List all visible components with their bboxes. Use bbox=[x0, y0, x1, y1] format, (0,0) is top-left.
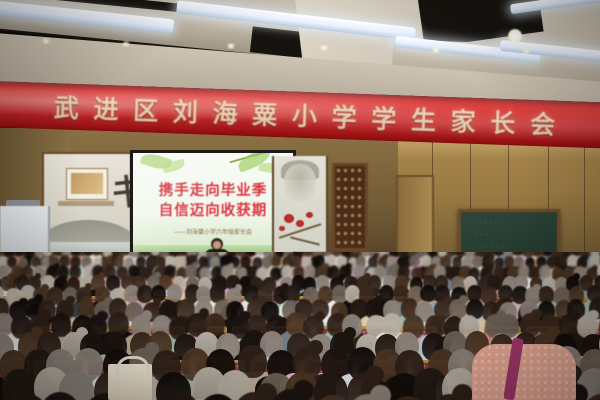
photo-scene: 武 进 区 刘 海 粟 小 学 学 生 家 长 会 书 携手走向毕业季 自信迈向… bbox=[0, 0, 600, 400]
pink-knit-top bbox=[472, 344, 576, 400]
audience-seating bbox=[0, 252, 600, 400]
audience-member bbox=[595, 393, 600, 400]
hanging-scroll bbox=[272, 156, 328, 252]
side-door[interactable] bbox=[396, 175, 434, 257]
chalkboard-line-1: · · · · · · · bbox=[469, 220, 503, 226]
tote-bag-handle bbox=[116, 356, 150, 375]
scroll-portrait bbox=[284, 164, 316, 202]
lattice-screen-panel bbox=[332, 163, 368, 251]
banner-highlights bbox=[0, 36, 600, 50]
chalkboard-line-3: · · · · · · · bbox=[471, 244, 505, 250]
school-logo-icon bbox=[66, 168, 108, 200]
chalkboard-line-2: · · · bbox=[475, 232, 488, 238]
mural-caption bbox=[58, 201, 114, 206]
